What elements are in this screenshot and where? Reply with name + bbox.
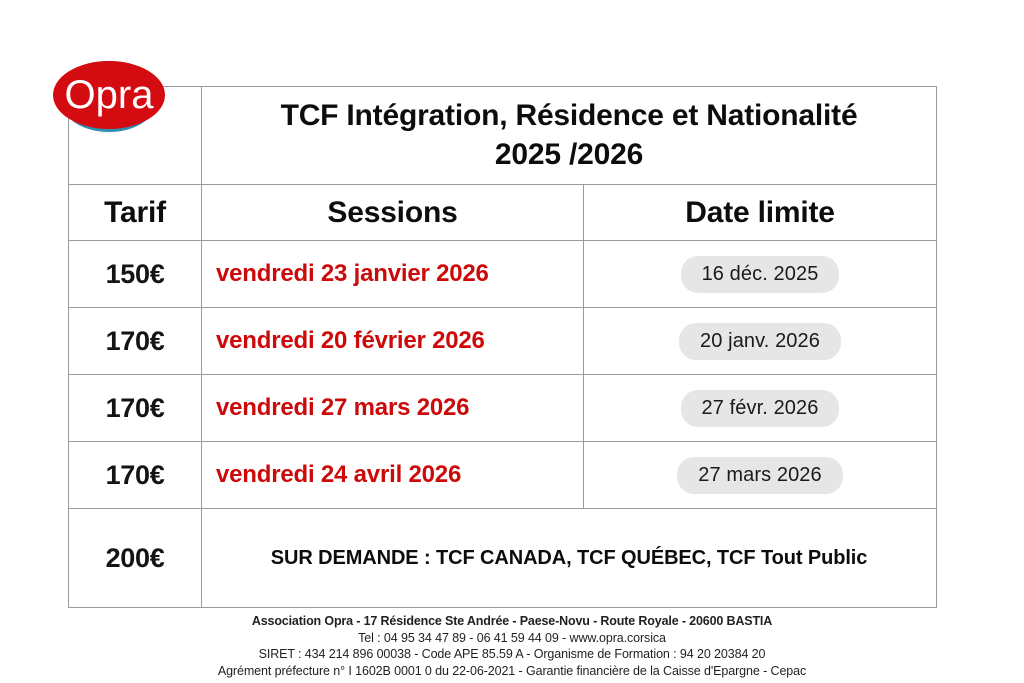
table-row-on-demand: 200€ SUR DEMANDE : TCF CANADA, TCF QUÉBE… (69, 509, 937, 608)
cell-tarif: 170€ (69, 442, 202, 509)
date-limite-badge: 27 mars 2026 (677, 457, 843, 494)
cell-date-limite: 20 janv. 2026 (584, 308, 937, 375)
table-row: 170€ vendredi 27 mars 2026 27 févr. 2026 (69, 375, 937, 442)
footer: Association Opra - 17 Résidence Ste Andr… (0, 613, 1024, 679)
cell-session: vendredi 27 mars 2026 (202, 375, 584, 442)
cell-session: vendredi 23 janvier 2026 (202, 241, 584, 308)
schedule-table: TCF Intégration, Résidence et Nationalit… (68, 86, 937, 608)
tarif-value: 170€ (106, 393, 165, 423)
column-header-tarif: Tarif (69, 185, 202, 241)
on-demand-note: SUR DEMANDE : TCF CANADA, TCF QUÉBEC, TC… (271, 547, 868, 569)
cell-session: vendredi 24 avril 2026 (202, 442, 584, 509)
table-title-cell: TCF Intégration, Résidence et Nationalit… (202, 87, 937, 185)
page-title-line-2: 2025 /2026 (495, 138, 643, 171)
session-value: vendredi 24 avril 2026 (202, 461, 583, 489)
tarif-value: 170€ (106, 326, 165, 356)
table-row: 150€ vendredi 23 janvier 2026 16 déc. 20… (69, 241, 937, 308)
column-header-tarif-label: Tarif (104, 196, 166, 229)
tarif-value: 150€ (106, 259, 165, 289)
cell-tarif: 170€ (69, 375, 202, 442)
cell-tarif: 200€ (69, 509, 202, 608)
opra-logo: Opra (52, 33, 166, 155)
cell-tarif: 170€ (69, 308, 202, 375)
page-title-line-1: TCF Intégration, Résidence et Nationalit… (281, 99, 858, 132)
footer-legal-siret: SIRET : 434 214 896 00038 - Code APE 85.… (0, 646, 1024, 663)
table-row: 170€ vendredi 20 février 2026 20 janv. 2… (69, 308, 937, 375)
cell-on-demand-note: SUR DEMANDE : TCF CANADA, TCF QUÉBEC, TC… (202, 509, 937, 608)
column-header-date-limite-label: Date limite (685, 196, 835, 229)
tarif-value: 200€ (106, 543, 165, 573)
cell-session: vendredi 20 février 2026 (202, 308, 584, 375)
logo-wordmark: Opra (65, 73, 155, 117)
schedule-table-container: TCF Intégration, Résidence et Nationalit… (68, 86, 936, 604)
cell-date-limite: 27 mars 2026 (584, 442, 937, 509)
page-title: TCF Intégration, Résidence et Nationalit… (202, 97, 936, 174)
tarif-value: 170€ (106, 460, 165, 490)
session-value: vendredi 27 mars 2026 (202, 394, 583, 422)
table-row: 170€ vendredi 24 avril 2026 27 mars 2026 (69, 442, 937, 509)
document-page: Opra TCF Intégration, Résidence et Natio… (0, 0, 1024, 683)
footer-contact: Tel : 04 95 34 47 89 - 06 41 59 44 09 - … (0, 630, 1024, 647)
column-header-sessions-label: Sessions (327, 196, 457, 229)
cell-tarif: 150€ (69, 241, 202, 308)
footer-address: Association Opra - 17 Résidence Ste Andr… (0, 613, 1024, 630)
date-limite-badge: 20 janv. 2026 (679, 323, 841, 360)
title-row: TCF Intégration, Résidence et Nationalit… (69, 87, 937, 185)
column-header-date-limite: Date limite (584, 185, 937, 241)
session-value: vendredi 20 février 2026 (202, 327, 583, 355)
footer-legal-agrement: Agrément préfecture n° I 1602B 0001 0 du… (0, 663, 1024, 680)
session-value: vendredi 23 janvier 2026 (202, 260, 583, 288)
date-limite-badge: 16 déc. 2025 (681, 256, 840, 293)
date-limite-badge: 27 févr. 2026 (681, 390, 840, 427)
cell-date-limite: 27 févr. 2026 (584, 375, 937, 442)
column-header-row: Tarif Sessions Date limite (69, 185, 937, 241)
column-header-sessions: Sessions (202, 185, 584, 241)
cell-date-limite: 16 déc. 2025 (584, 241, 937, 308)
